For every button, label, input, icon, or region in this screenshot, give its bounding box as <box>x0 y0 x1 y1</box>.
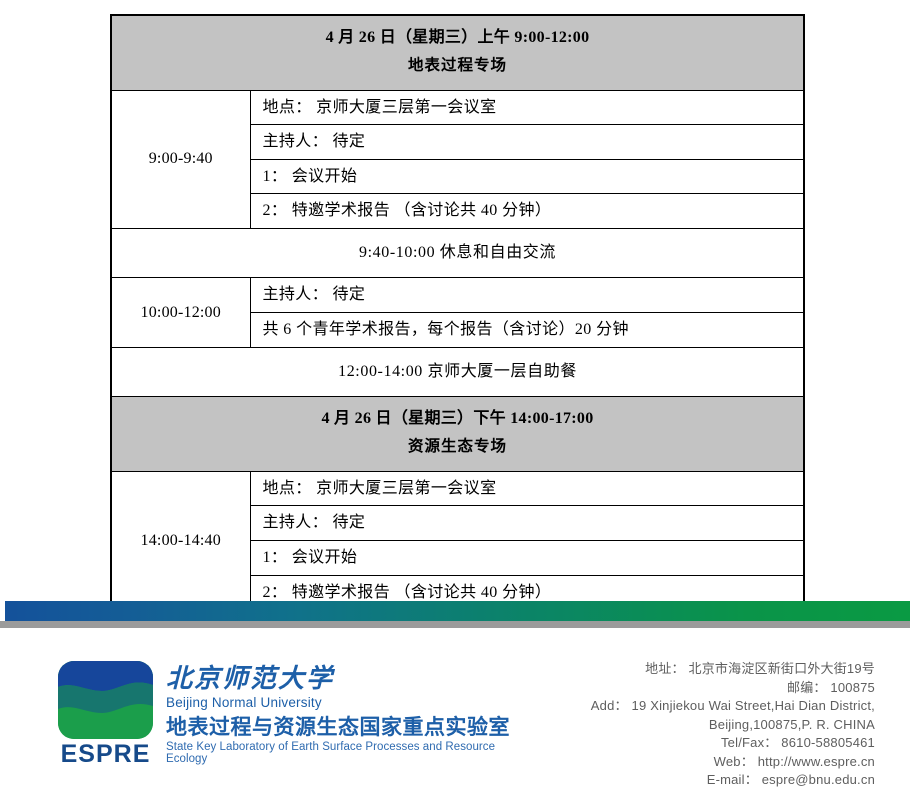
detail-cell: 主持人： 待定 <box>250 125 804 160</box>
agenda-table-container: 4 月 26 日（星期三）上午 9:00-12:00地表过程专场9:00-9:4… <box>110 14 803 611</box>
session-header-line2: 地表过程专场 <box>116 56 799 77</box>
contact-line: E-mail： espre@bnu.edu.cn <box>545 771 875 790</box>
detail-cell: 共 6 个青年学术报告，每个报告（含讨论）20 分钟 <box>250 313 804 348</box>
morning-session-header: 4 月 26 日（星期三）上午 9:00-12:00地表过程专场 <box>111 15 804 90</box>
contact-line: Beijing,100875,P. R. CHINA <box>545 716 875 735</box>
detail-cell: 地点： 京师大厦三层第一会议室 <box>250 471 804 506</box>
lunch-1200-1400: 12:00-14:00 京师大厦一层自助餐 <box>111 347 804 397</box>
contact-line: 邮编： 100875 <box>545 679 875 698</box>
time-cell: 9:00-9:40 <box>111 90 250 228</box>
detail-cell: 地点： 京师大厦三层第一会议室 <box>250 90 804 125</box>
footer-gray-divider <box>0 621 910 628</box>
afternoon-session-header: 4 月 26 日（星期三）下午 14:00-17:00资源生态专场 <box>111 397 804 472</box>
detail-cell: 主持人： 待定 <box>250 278 804 313</box>
session-header-line2: 资源生态专场 <box>116 437 799 458</box>
table-row: 4 月 26 日（星期三）下午 14:00-17:00资源生态专场 <box>111 397 804 472</box>
session-header-line1: 4 月 26 日（星期三）下午 14:00-17:00 <box>321 410 593 427</box>
contact-line: Add： 19 Xinjiekou Wai Street,Hai Dian Di… <box>545 697 875 716</box>
table-row: 9:40-10:00 休息和自由交流 <box>111 228 804 278</box>
university-name-cn: 北京师范大学 <box>166 666 526 692</box>
contact-line: Tel/Fax： 8610-58805461 <box>545 734 875 753</box>
table-row: 10:00-12:00主持人： 待定 <box>111 278 804 313</box>
agenda-table: 4 月 26 日（星期三）上午 9:00-12:00地表过程专场9:00-9:4… <box>110 14 805 611</box>
laboratory-name-en: State Key Laboratory of Earth Surface Pr… <box>166 741 526 765</box>
laboratory-name-cn: 地表过程与资源生态国家重点实验室 <box>166 716 526 739</box>
session-header-line1: 4 月 26 日（星期三）上午 9:00-12:00 <box>326 29 590 46</box>
table-row: 4 月 26 日（星期三）上午 9:00-12:00地表过程专场 <box>111 15 804 90</box>
detail-cell: 主持人： 待定 <box>250 506 804 541</box>
contact-line: Web： http://www.espre.cn <box>545 753 875 772</box>
university-name-en: Beijing Normal University <box>166 695 526 710</box>
table-row: 12:00-14:00 京师大厦一层自助餐 <box>111 347 804 397</box>
time-cell: 10:00-12:00 <box>111 278 250 347</box>
footer-contact-block: 地址： 北京市海淀区新街口外大街19号邮编： 100875Add： 19 Xin… <box>545 660 875 790</box>
espre-logo-mark <box>58 661 153 739</box>
detail-cell: 1： 会议开始 <box>250 540 804 575</box>
detail-cell: 2： 特邀学术报告 （含讨论共 40 分钟） <box>250 194 804 229</box>
footer-gradient-bar <box>0 601 910 621</box>
detail-cell: 1： 会议开始 <box>250 159 804 194</box>
footer-organization-names: 北京师范大学 Beijing Normal University 地表过程与资源… <box>166 666 526 765</box>
agenda-table-body: 4 月 26 日（星期三）上午 9:00-12:00地表过程专场9:00-9:4… <box>111 15 804 610</box>
table-row: 9:00-9:40地点： 京师大厦三层第一会议室 <box>111 90 804 125</box>
break-0940-1000: 9:40-10:00 休息和自由交流 <box>111 228 804 278</box>
espre-wave-icon <box>58 661 153 739</box>
espre-logo: ESPRE <box>58 661 168 766</box>
contact-line: 地址： 北京市海淀区新街口外大街19号 <box>545 660 875 679</box>
table-row: 14:00-14:40地点： 京师大厦三层第一会议室 <box>111 471 804 506</box>
espre-wordmark: ESPRE <box>58 740 153 769</box>
time-cell: 14:00-14:40 <box>111 471 250 610</box>
